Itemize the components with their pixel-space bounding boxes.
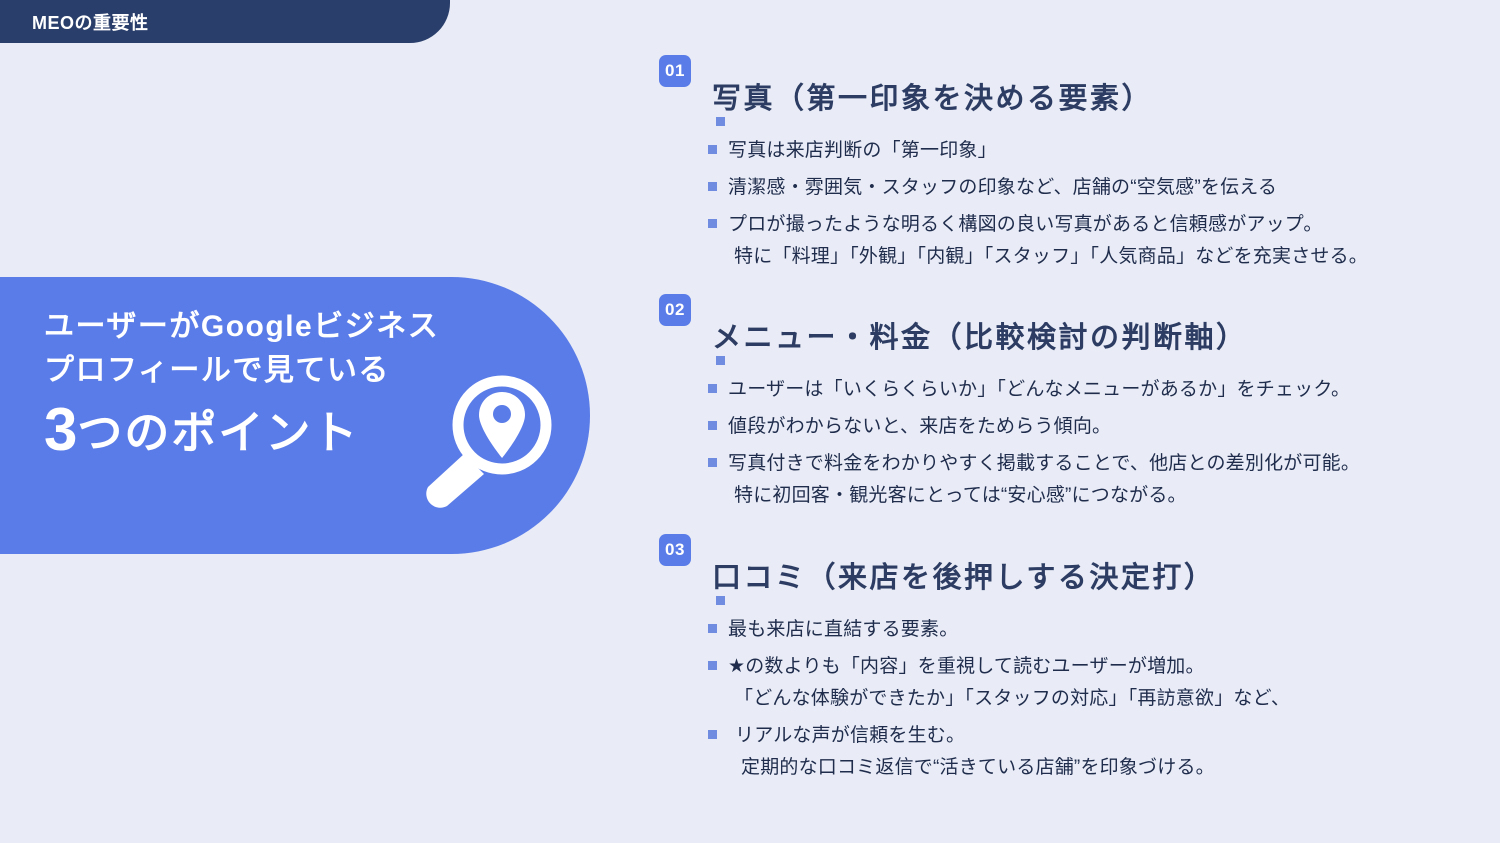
- bullet-text-line-2: 定期的な口コミ返信で“活きている店舗”を印象づける。: [741, 752, 1215, 784]
- list-item: 清潔感・雰囲気・スタッフの印象など、店舗の“空気感”を伝える: [708, 172, 1498, 204]
- bullet-text-line-1: 写真付きで料金をわかりやすく掲載することで、他店との差別化が可能。: [728, 453, 1360, 474]
- bullet-square-icon: [708, 219, 717, 228]
- bullet-square-icon: [708, 384, 717, 393]
- bullet-text: 最も来店に直結する要素。: [728, 614, 958, 646]
- bullet-text-line-1: ★の数よりも「内容」を重視して読むユーザーが増加。: [728, 656, 1205, 677]
- bullet-text: リアルな声が信頼を生む。定期的な口コミ返信で“活きている店舗”を印象づける。: [735, 720, 1215, 784]
- section-badge-01: 01: [659, 55, 691, 87]
- bullet-square-icon: [716, 596, 725, 605]
- bullet-text: 写真付きで料金をわかりやすく掲載することで、他店との差別化が可能。特に初回客・観…: [728, 448, 1360, 512]
- list-item: 値段がわからないと、来店をためらう傾向。: [708, 411, 1498, 443]
- hero-big-number: 3: [44, 396, 77, 463]
- bullet-square-icon: [716, 356, 725, 365]
- section-heading-03: 口コミ（来店を後押しする決定打）: [712, 554, 1215, 596]
- list-item: 最も来店に直結する要素。: [708, 614, 1498, 646]
- bullet-square-icon: [716, 117, 725, 126]
- bullet-list-03: 最も来店に直結する要素。 ★の数よりも「内容」を重視して読むユーザーが増加。「ど…: [708, 596, 1498, 789]
- hero-text-block: ユーザーがGoogleビジネス プロフィールで見ている 3つのポイント: [44, 305, 514, 461]
- list-item: ユーザーは「いくらくらいか」「どんなメニューがあるか」をチェック。: [708, 374, 1498, 406]
- bullet-list-02: ユーザーは「いくらくらいか」「どんなメニューがあるか」をチェック。 値段がわから…: [708, 356, 1498, 517]
- bullet-square-icon: [708, 182, 717, 191]
- bullet-text: プロが撮ったような明るく構図の良い写真があると信頼感がアップ。特に「料理」「外観…: [728, 209, 1368, 273]
- list-item: 写真付きで料金をわかりやすく掲載することで、他店との差別化が可能。特に初回客・観…: [708, 448, 1498, 512]
- list-item: リアルな声が信頼を生む。定期的な口コミ返信で“活きている店舗”を印象づける。: [708, 720, 1498, 784]
- list-item: [708, 356, 1498, 365]
- list-item: [708, 117, 1498, 126]
- section-heading-01: 写真（第一印象を決める要素）: [712, 75, 1153, 117]
- bullet-square-icon: [708, 661, 717, 670]
- bullet-square-icon: [708, 624, 717, 633]
- hero-line-3: 3つのポイント: [44, 398, 514, 461]
- bullet-square-icon: [708, 730, 717, 739]
- hero-line-3-rest: つのポイント: [77, 407, 359, 458]
- header-tab-title: MEOの重要性: [32, 9, 149, 35]
- hero-line-2: プロフィールで見ている: [44, 349, 514, 393]
- bullet-text: 値段がわからないと、来店をためらう傾向。: [728, 411, 1111, 443]
- list-item: プロが撮ったような明るく構図の良い写真があると信頼感がアップ。特に「料理」「外観…: [708, 209, 1498, 273]
- section-badge-03: 03: [659, 534, 691, 566]
- header-tab: MEOの重要性: [0, 0, 450, 43]
- hero-panel: ユーザーがGoogleビジネス プロフィールで見ている 3つのポイント: [0, 277, 590, 554]
- bullet-text: ユーザーは「いくらくらいか」「どんなメニューがあるか」をチェック。: [728, 374, 1350, 406]
- bullet-text-line-1: リアルな声が信頼を生む。: [735, 725, 965, 746]
- bullet-square-icon: [708, 458, 717, 467]
- bullet-text-line-2: 特に「料理」「外観」「内観」「スタッフ」「人気商品」などを充実させる。: [734, 241, 1368, 273]
- section-badge-02: 02: [659, 294, 691, 326]
- bullet-text-line-1: プロが撮ったような明るく構図の良い写真があると信頼感がアップ。: [728, 214, 1323, 235]
- bullet-text: 清潔感・雰囲気・スタッフの印象など、店舗の“空気感”を伝える: [728, 172, 1277, 204]
- bullet-text-line-2: 「どんな体験ができたか」「スタッフの対応」「再訪意欲」など、: [734, 683, 1290, 715]
- list-item: 写真は来店判断の「第一印象」: [708, 135, 1498, 167]
- content-column: 01 写真（第一印象を決める要素） 写真は来店判断の「第一印象」 清潔感・雰囲気…: [650, 0, 1500, 843]
- section-heading-02: メニュー・料金（比較検討の判断軸）: [712, 314, 1248, 356]
- list-item: [708, 596, 1498, 605]
- bullet-square-icon: [708, 421, 717, 430]
- bullet-list-01: 写真は来店判断の「第一印象」 清潔感・雰囲気・スタッフの印象など、店舗の“空気感…: [708, 117, 1498, 278]
- bullet-text-line-2: 特に初回客・観光客にとっては“安心感”につながる。: [734, 480, 1360, 512]
- bullet-text: 写真は来店判断の「第一印象」: [728, 135, 997, 167]
- bullet-square-icon: [708, 145, 717, 154]
- hero-line-1: ユーザーがGoogleビジネス: [44, 305, 514, 349]
- list-item: ★の数よりも「内容」を重視して読むユーザーが増加。「どんな体験ができたか」「スタ…: [708, 651, 1498, 715]
- bullet-text: ★の数よりも「内容」を重視して読むユーザーが増加。「どんな体験ができたか」「スタ…: [728, 651, 1290, 715]
